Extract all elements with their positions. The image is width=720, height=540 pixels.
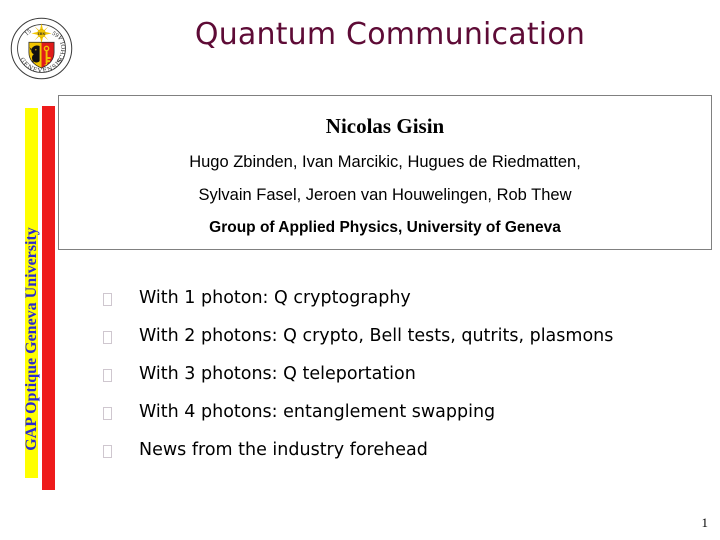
page-title: Quantum Communication <box>90 18 690 51</box>
university-of-geneva-seal-icon: GENEVENSIS SCHOLA 15 59 <box>10 17 73 80</box>
list-item: With 4 photons: entanglement swapping <box>103 402 703 440</box>
list-item-label: With 2 photons: Q crypto, Bell tests, qu… <box>139 326 613 346</box>
list-item-label: With 3 photons: Q teleportation <box>139 364 416 384</box>
author-box: Nicolas Gisin Hugo Zbinden, Ivan Marciki… <box>58 95 712 250</box>
presenter-name: Nicolas Gisin <box>59 116 711 137</box>
list-item: News from the industry forehead <box>103 440 703 478</box>
sidebar-group-label: GAP Optique Geneva University <box>23 209 41 469</box>
list-item-label: With 4 photons: entanglement swapping <box>139 402 495 422</box>
sidebar-stripe-red <box>42 106 55 490</box>
svg-text:IHS: IHS <box>38 32 46 36</box>
page-number: 1 <box>702 515 709 531</box>
coauthors-line-2: Sylvain Fasel, Jeroen van Houwelingen, R… <box>59 187 711 204</box>
coauthors-line-1: Hugo Zbinden, Ivan Marcikic, Hugues de R… <box>59 154 711 171</box>
list-item-label: With 1 photon: Q cryptography <box>139 288 411 308</box>
empty-box-bullet-icon <box>103 369 112 382</box>
presentation-slide: GENEVENSIS SCHOLA 15 59 <box>0 0 720 540</box>
list-item-label: News from the industry forehead <box>139 440 428 460</box>
empty-box-bullet-icon <box>103 331 112 344</box>
empty-box-bullet-icon <box>103 445 112 458</box>
empty-box-bullet-icon <box>103 407 112 420</box>
list-item: With 3 photons: Q teleportation <box>103 364 703 402</box>
empty-box-bullet-icon <box>103 293 112 306</box>
bullet-list: With 1 photon: Q cryptography With 2 pho… <box>103 288 703 478</box>
list-item: With 2 photons: Q crypto, Bell tests, qu… <box>103 326 703 364</box>
list-item: With 1 photon: Q cryptography <box>103 288 703 326</box>
affiliation: Group of Applied Physics, University of … <box>59 220 711 236</box>
